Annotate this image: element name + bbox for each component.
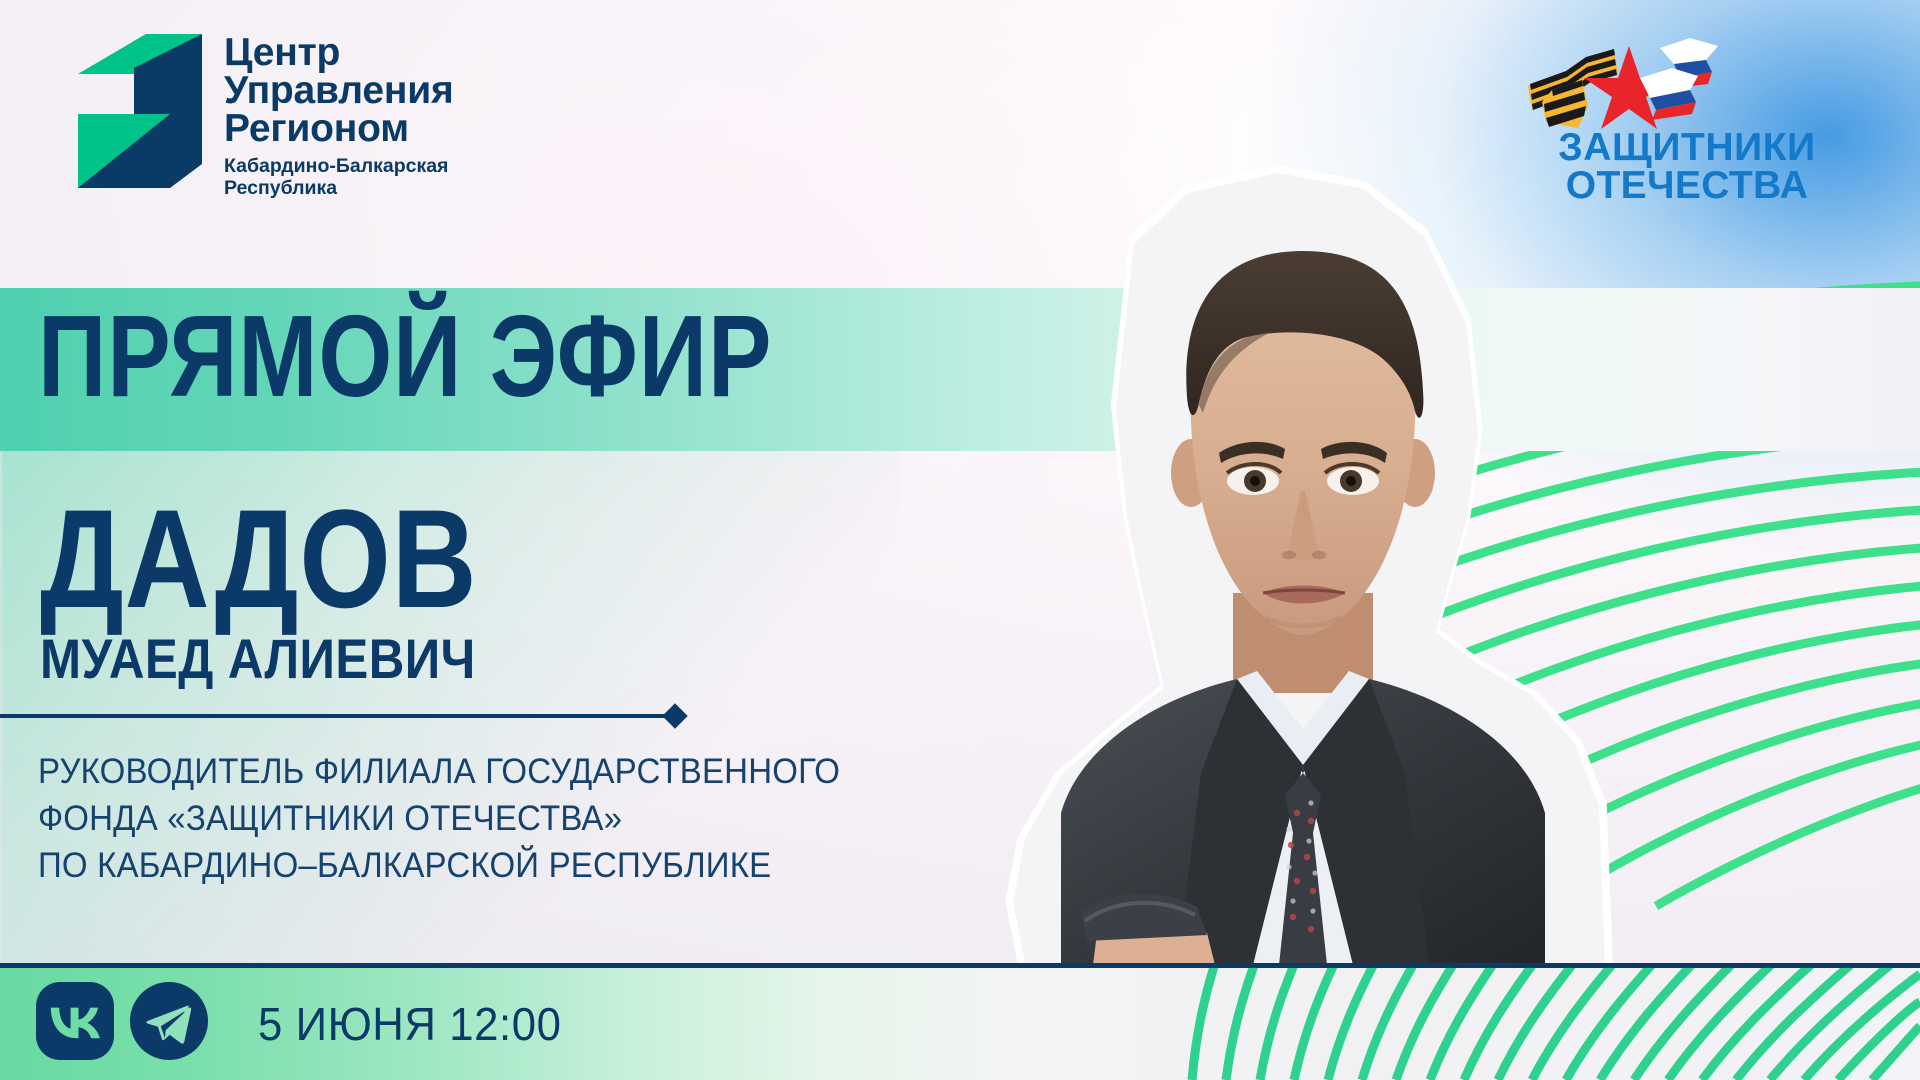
defenders-name-line-1: ЗАЩИТНИКИ: [1492, 129, 1882, 167]
cur-title-line-2: Управления: [224, 72, 454, 110]
cur-logo: Центр Управления Регионом Кабардино-Балк…: [42, 28, 454, 199]
speaker-role-line-3: ПО КАБАРДИНО–БАЛКАРСКОЙ РЕСПУБЛИКЕ: [38, 842, 840, 889]
speaker-surname: ДАДОВ: [40, 489, 477, 629]
speaker-role-line-2: ФОНДА «ЗАЩИТНИКИ ОТЕЧЕСТВА»: [38, 795, 840, 842]
live-title: ПРЯМОЙ ЭФИР: [38, 298, 772, 414]
divider-with-diamond: [0, 705, 700, 727]
speaker-role: РУКОВОДИТЕЛЬ ФИЛИАЛА ГОСУДАРСТВЕННОГО ФО…: [38, 748, 840, 889]
speaker-given-name: МУАЕД АЛИЕВИЧ: [40, 631, 476, 687]
vk-icon[interactable]: [36, 982, 114, 1060]
broadcast-schedule: 5 ИЮНЯ 12:00: [258, 1001, 561, 1047]
telegram-icon[interactable]: [130, 982, 208, 1060]
cur-isometric-cube-logo: [42, 28, 202, 193]
decorative-green-rays-footer: [1100, 968, 1920, 1080]
footer-social-links: [36, 982, 208, 1060]
russian-flag-ribbon-icon: [1640, 38, 1718, 120]
cur-subtitle-line-1: Кабардино-Балкарская: [224, 156, 454, 177]
cur-title-line-3: Регионом: [224, 110, 454, 148]
cur-title-line-1: Центр: [224, 34, 454, 72]
footer-bar: 5 ИЮНЯ 12:00: [0, 968, 1920, 1080]
cur-logo-text: Центр Управления Регионом Кабардино-Балк…: [224, 28, 454, 199]
divider-diamond-icon: [662, 703, 687, 728]
defenders-of-fatherland-emblem: [1522, 28, 1852, 133]
broadcast-announcement-banner: Центр Управления Регионом Кабардино-Балк…: [0, 0, 1920, 1080]
speaker-portrait: [975, 165, 1635, 965]
speaker-role-line-1: РУКОВОДИТЕЛЬ ФИЛИАЛА ГОСУДАРСТВЕННОГО: [38, 748, 840, 795]
portrait-image: [1001, 173, 1605, 965]
cur-subtitle-line-2: Республика: [224, 178, 454, 199]
divider-line: [0, 714, 672, 718]
